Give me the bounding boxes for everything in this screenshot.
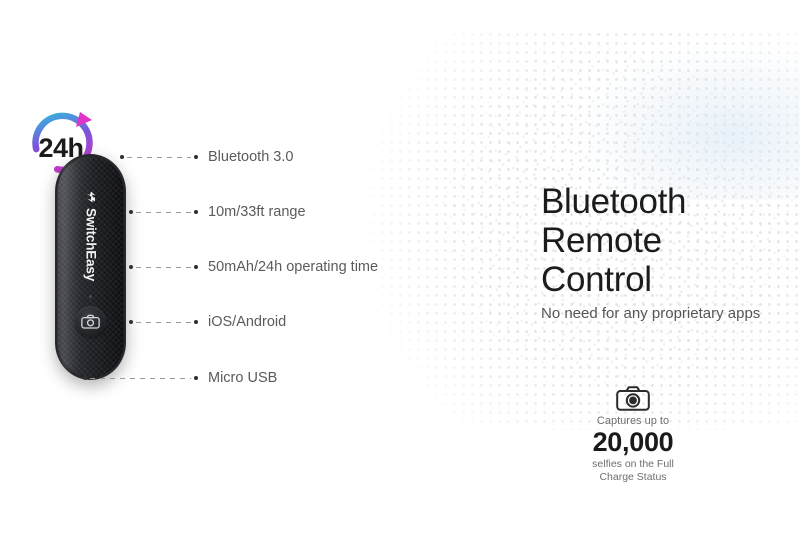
- feature-callout: 50mAh/24h operating time: [129, 258, 378, 276]
- leader-line: [90, 378, 191, 379]
- product-infographic: 24h SwitchEasy: [0, 0, 800, 533]
- feature-label: Bluetooth 3.0: [208, 149, 293, 165]
- stat-number: 20,000: [543, 427, 723, 457]
- blue-glow-accent: [570, 40, 800, 200]
- headline-line-1: Bluetooth: [541, 182, 686, 221]
- leader-line: [127, 157, 191, 158]
- switcheasy-logo-icon: [85, 190, 96, 203]
- leader-dot-start: [83, 376, 87, 380]
- leader-dot-end: [194, 155, 198, 159]
- leader-dot-start: [129, 210, 133, 214]
- brand-name: SwitchEasy: [83, 208, 98, 281]
- feature-callout: 10m/33ft range: [129, 203, 306, 221]
- bluetooth-remote-device: SwitchEasy: [55, 154, 126, 380]
- device-branding: SwitchEasy: [83, 190, 98, 281]
- feature-callout: Micro USB: [83, 369, 277, 387]
- shutter-button[interactable]: [75, 306, 106, 337]
- feature-label: iOS/Android: [208, 314, 286, 330]
- stat-caption: Captures up to: [543, 415, 723, 427]
- device-highlight: [61, 162, 81, 372]
- stat-icon-wrap: [543, 386, 723, 411]
- headline-line-2: Remote: [541, 221, 686, 260]
- page-title: Bluetooth Remote Control: [541, 182, 686, 299]
- leader-dot-end: [194, 265, 198, 269]
- leader-dot-end: [194, 210, 198, 214]
- leader-dot-start: [120, 155, 124, 159]
- leader-dot-end: [194, 376, 198, 380]
- page-subtitle: No need for any proprietary apps: [541, 305, 760, 322]
- leader-line: [136, 322, 191, 323]
- stat-subtext-line-2: Charge Status: [543, 471, 723, 484]
- leader-dot-end: [194, 320, 198, 324]
- feature-callout: iOS/Android: [129, 313, 286, 331]
- leader-dot-start: [129, 265, 133, 269]
- camera-icon: [616, 386, 650, 411]
- leader-dot-start: [129, 320, 133, 324]
- feature-label: Micro USB: [208, 370, 277, 386]
- leader-line: [136, 212, 191, 213]
- headline-line-3: Control: [541, 260, 686, 299]
- stat-subtext: selfies on the Full Charge Status: [543, 458, 723, 484]
- feature-callout: Bluetooth 3.0: [120, 148, 293, 166]
- capture-stat-block: Captures up to 20,000 selfies on the Ful…: [543, 386, 723, 484]
- leader-line: [136, 267, 191, 268]
- feature-label: 10m/33ft range: [208, 204, 306, 220]
- status-led: [89, 295, 92, 298]
- device-body: SwitchEasy: [55, 154, 126, 380]
- camera-icon: [81, 314, 100, 329]
- stat-subtext-line-1: selfies on the Full: [543, 458, 723, 471]
- feature-label: 50mAh/24h operating time: [208, 259, 378, 275]
